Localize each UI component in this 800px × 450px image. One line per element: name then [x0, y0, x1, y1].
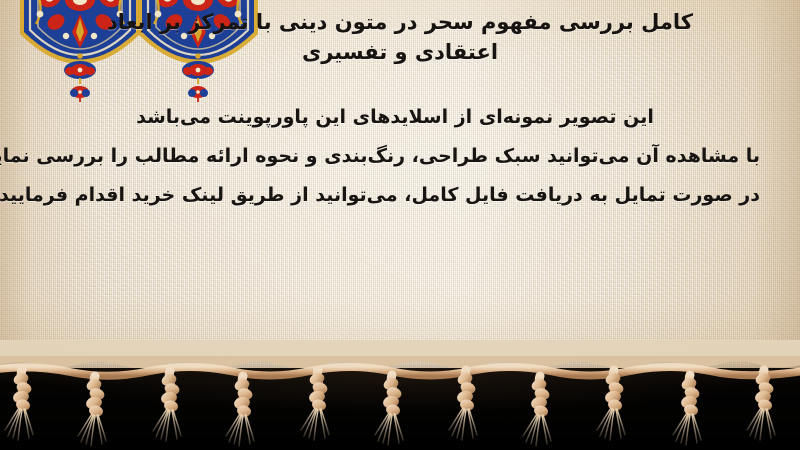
slide-title: کامل بررسی مفهوم سحر در متون دینی با تمر… — [96, 8, 704, 68]
slide-body: این تصویر نمونه‌ای از اسلایدهای این پاور… — [30, 108, 760, 205]
slide-canvas: کامل بررسی مفهوم سحر در متون دینی با تمر… — [0, 0, 800, 450]
body-line-3: در صورت تمایل به دریافت فایل کامل، می‌تو… — [30, 186, 760, 205]
text-layer: کامل بررسی مفهوم سحر در متون دینی با تمر… — [0, 0, 800, 372]
body-line-2: با مشاهده آن می‌توانید سبک طراحی، رنگ‌بن… — [30, 147, 760, 166]
body-line-1: این تصویر نمونه‌ای از اسلایدهای این پاور… — [30, 108, 760, 127]
black-lower-band — [0, 368, 800, 450]
